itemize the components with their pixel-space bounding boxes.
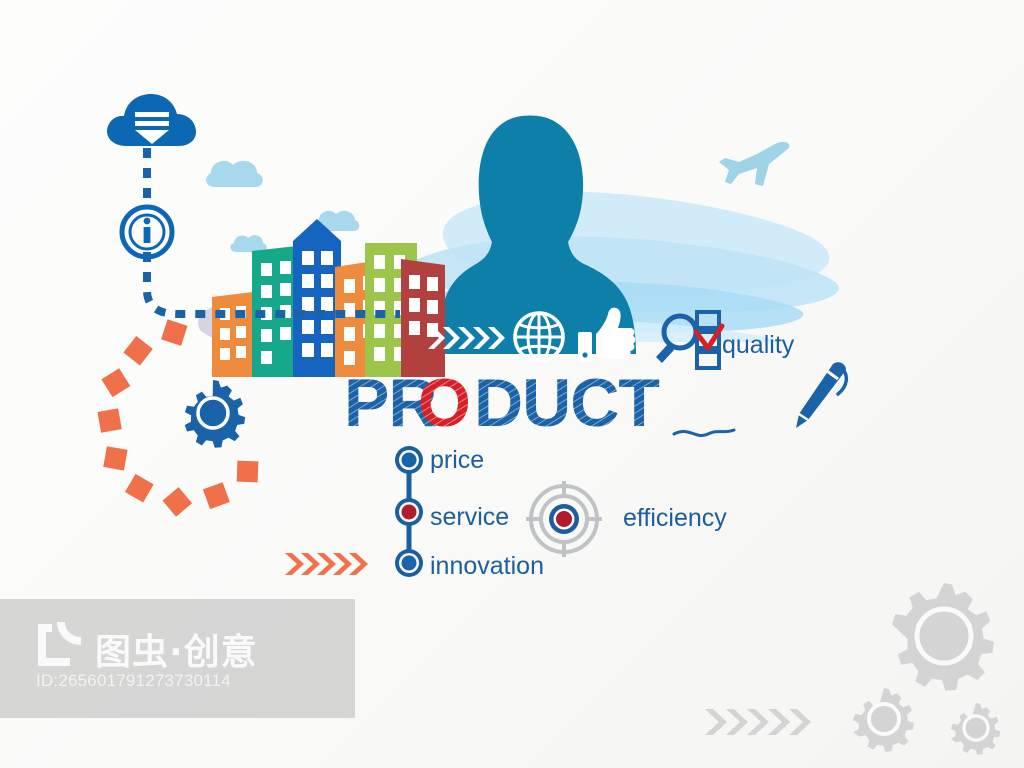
watermark-brand: 图虫·创意 [95,623,258,675]
gear-icon[interactable] [180,380,246,446]
gear-icon [853,688,915,750]
globe-icon [512,310,566,364]
bullet-marker-service[interactable] [392,495,426,529]
bullet-label-price: price [430,448,484,473]
gear-icon [951,703,1001,753]
tuchong-logo-icon [38,622,90,668]
pen-icon[interactable] [786,360,850,432]
thumbs-up-icon [578,306,634,364]
chevron-arrows-icon [705,705,835,739]
chevron-arrows-icon [428,323,510,353]
airplane-icon [713,140,803,188]
watermark-panel: 图虫·创意 ID:265601791273730114 [0,599,355,718]
bullet-label-innovation: innovation [430,554,544,579]
bullet-marker-innovation[interactable] [392,546,426,580]
chevron-arrows-icon [285,550,375,580]
info-icon[interactable] [119,204,175,260]
target-icon[interactable] [526,481,602,557]
watermark-id: ID:265601791273730114 [36,671,231,691]
product-word-accent: O [418,365,471,441]
bullet-label-service: service [430,505,509,530]
illustration-canvas: quality PR O DUCT price [0,0,1024,768]
bullet-marker-price[interactable] [392,443,426,477]
efficiency-label: efficiency [623,506,727,531]
quality-label: quality [722,333,794,358]
product-word-blue2: DUCT [474,365,659,441]
gear-icon [891,583,997,689]
product-wordmark: PR O DUCT [344,368,744,448]
